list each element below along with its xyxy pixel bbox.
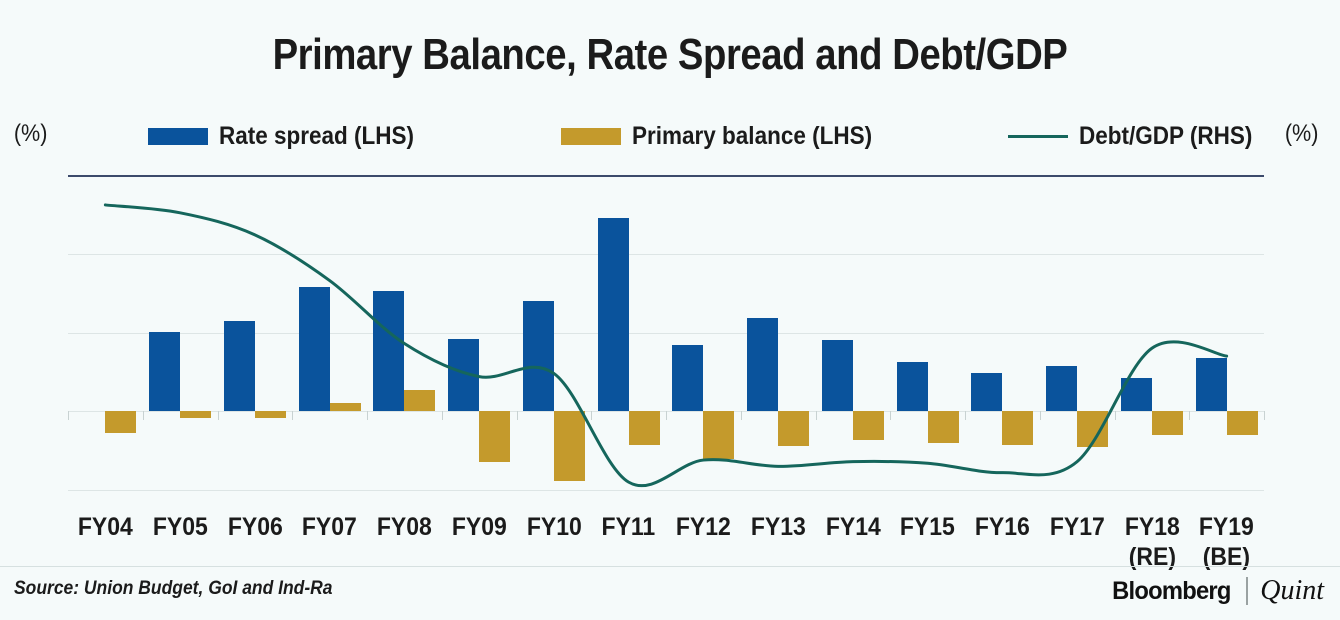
x-axis-label-main: FY07 (295, 512, 364, 542)
x-axis-label: FY07 (295, 512, 364, 542)
bar-rate-spread[interactable] (1121, 378, 1152, 411)
legend-label-rate-spread: Rate spread (LHS) (219, 122, 414, 151)
x-axis-label: FY17 (1043, 512, 1112, 542)
brand-divider (1246, 577, 1248, 605)
x-axis-label: FY18(RE) (1117, 512, 1186, 572)
x-axis-label: FY08 (370, 512, 439, 542)
bar-rate-spread[interactable] (971, 373, 1002, 412)
x-axis-label-main: FY18 (1117, 512, 1186, 542)
bar-primary-balance[interactable] (853, 411, 884, 439)
axis-tick-mark (965, 411, 966, 420)
bar-rate-spread[interactable] (373, 291, 404, 411)
axis-tick-mark (292, 411, 293, 420)
x-axis-label-main: FY15 (893, 512, 962, 542)
bar-rate-spread[interactable] (822, 340, 853, 412)
bar-rate-spread[interactable] (299, 287, 330, 411)
gridline (68, 254, 1264, 255)
bar-rate-spread[interactable] (747, 318, 778, 411)
zero-baseline (68, 175, 1264, 177)
x-axis-label-main: FY14 (818, 512, 887, 542)
bar-rate-spread[interactable] (672, 345, 703, 411)
axis-tick-mark (68, 411, 69, 420)
source-note: Source: Union Budget, GoI and Ind-Ra (14, 578, 333, 600)
x-axis-label-sub: (RE) (1117, 542, 1186, 572)
bar-primary-balance[interactable] (330, 403, 361, 411)
axis-tick-mark (741, 411, 742, 420)
bar-primary-balance[interactable] (778, 411, 809, 446)
bar-primary-balance[interactable] (703, 411, 734, 458)
axis-tick-mark (442, 411, 443, 420)
x-axis-label-sub: (BE) (1192, 542, 1261, 572)
x-axis-label: FY19(BE) (1192, 512, 1261, 572)
bar-primary-balance[interactable] (1077, 411, 1108, 447)
x-axis-label: FY14 (818, 512, 887, 542)
x-axis-label: FY11 (594, 512, 663, 542)
legend-item-rate-spread[interactable]: Rate spread (LHS) (148, 122, 436, 151)
legend-label-debt-gdp: Debt/GDP (RHS) (1079, 122, 1252, 151)
bar-primary-balance[interactable] (255, 411, 286, 417)
legend-line-debt-gdp (1008, 128, 1068, 145)
bar-rate-spread[interactable] (1196, 358, 1227, 412)
bar-rate-spread[interactable] (897, 362, 928, 411)
right-axis-unit: (%) (1285, 120, 1319, 148)
left-axis-unit: (%) (14, 120, 48, 148)
x-axis-label: FY05 (146, 512, 215, 542)
gridline (68, 490, 1264, 491)
bar-primary-balance[interactable] (479, 411, 510, 461)
chart-legend: Rate spread (LHS) Primary balance (LHS) … (148, 123, 1272, 149)
x-axis-label-main: FY19 (1192, 512, 1261, 542)
x-axis-label: FY04 (71, 512, 140, 542)
bar-rate-spread[interactable] (523, 301, 554, 411)
x-axis-label: FY12 (669, 512, 738, 542)
axis-tick-mark (890, 411, 891, 420)
bar-primary-balance[interactable] (180, 411, 211, 417)
brand-quint-text: Quint (1260, 575, 1324, 607)
x-axis-label-main: FY13 (744, 512, 813, 542)
x-axis-label: FY16 (968, 512, 1037, 542)
axis-tick-mark (218, 411, 219, 420)
bar-primary-balance[interactable] (554, 411, 585, 480)
x-axis-label-main: FY10 (519, 512, 588, 542)
bar-primary-balance[interactable] (1152, 411, 1183, 435)
footer-divider (0, 566, 1340, 567)
x-axis-label-main: FY04 (71, 512, 140, 542)
axis-tick-mark (1189, 411, 1190, 420)
x-axis-label-main: FY16 (968, 512, 1037, 542)
x-axis-label: FY09 (445, 512, 514, 542)
x-axis-label: FY13 (744, 512, 813, 542)
bar-primary-balance[interactable] (928, 411, 959, 443)
bar-rate-spread[interactable] (224, 321, 255, 411)
bar-primary-balance[interactable] (1227, 411, 1258, 435)
bar-rate-spread[interactable] (448, 339, 479, 411)
x-axis-label-main: FY08 (370, 512, 439, 542)
axis-tick-mark (591, 411, 592, 420)
bar-rate-spread[interactable] (598, 218, 629, 412)
x-axis-label-main: FY05 (146, 512, 215, 542)
bar-rate-spread[interactable] (149, 332, 180, 412)
axis-tick-mark (367, 411, 368, 420)
x-axis-label-main: FY06 (220, 512, 289, 542)
x-axis-label-main: FY09 (445, 512, 514, 542)
legend-swatch-primary-balance (561, 128, 621, 145)
x-axis-label: FY15 (893, 512, 962, 542)
axis-tick-mark (1264, 411, 1265, 420)
x-axis-label: FY10 (519, 512, 588, 542)
chart-root: Primary Balance, Rate Spread and Debt/GD… (0, 0, 1340, 620)
legend-label-primary-balance: Primary balance (LHS) (632, 122, 872, 151)
legend-swatch-rate-spread (148, 128, 208, 145)
legend-item-debt-gdp[interactable]: Debt/GDP (RHS) (1008, 122, 1272, 151)
brand-logo: Bloomberg Quint (1109, 576, 1324, 606)
bar-primary-balance[interactable] (105, 411, 136, 433)
page-title: Primary Balance, Rate Spread and Debt/GD… (87, 28, 1253, 82)
bar-primary-balance[interactable] (629, 411, 660, 445)
x-axis-label-main: FY11 (594, 512, 663, 542)
x-axis-label: FY06 (220, 512, 289, 542)
bar-primary-balance[interactable] (404, 390, 435, 411)
axis-tick-mark (1115, 411, 1116, 420)
axis-tick-mark (143, 411, 144, 420)
bar-primary-balance[interactable] (1002, 411, 1033, 445)
brand-bloomberg-text: Bloomberg (1113, 577, 1232, 606)
x-axis-label-main: FY12 (669, 512, 738, 542)
x-axis-label-main: FY17 (1043, 512, 1112, 542)
axis-tick-mark (517, 411, 518, 420)
legend-item-primary-balance[interactable]: Primary balance (LHS) (561, 122, 899, 151)
axis-tick-mark (666, 411, 667, 420)
axis-tick-mark (816, 411, 817, 420)
axis-tick-mark (1040, 411, 1041, 420)
bar-rate-spread[interactable] (1046, 366, 1077, 412)
plot-area: 151050-5 8580757065 FY04FY05FY06FY07FY08… (68, 175, 1264, 490)
